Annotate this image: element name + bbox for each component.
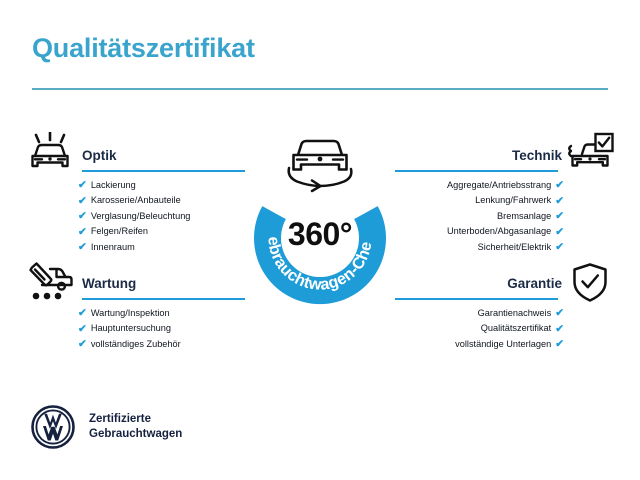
volkswagen-lockup: Zertifizierte Gebrauchtwagen (30, 404, 182, 450)
360-gebrauchtwagen-check-badge: Gebrauchtwagen-Check 360° (228, 122, 412, 312)
footer-line-1: Zertifizierte (89, 412, 182, 427)
footer-text: Zertifizierte Gebrauchtwagen (89, 412, 182, 442)
section-title-optik: Optik (82, 148, 117, 163)
list-item: Aggregate/Antriebsstrang✔ (447, 178, 564, 193)
list-item: ✔vollständiges Zubehör (78, 337, 181, 352)
section-title-garantie: Garantie (507, 276, 562, 291)
list-item: Sicherheit/Elektrik✔ (447, 240, 564, 255)
list-item: Lenkung/Fahrwerk✔ (447, 193, 564, 208)
check-icon: ✔ (555, 324, 564, 335)
section-title-technik: Technik (512, 148, 562, 163)
list-item-label: Garantienachweis (478, 306, 552, 321)
list-item-label: Bremsanlage (497, 209, 551, 224)
check-icon: ✔ (78, 180, 87, 191)
footer-line-2: Gebrauchtwagen (89, 427, 182, 442)
check-icon: ✔ (555, 242, 564, 253)
list-item-label: Aggregate/Antriebsstrang (447, 178, 551, 193)
check-icon: ✔ (78, 339, 87, 350)
page-title: Qualitätszertifikat (32, 33, 255, 64)
volkswagen-logo (30, 404, 76, 450)
check-icon: ✔ (78, 196, 87, 207)
list-item: ✔Verglasung/Beleuchtung (78, 209, 190, 224)
checklist-garantie: Garantienachweis✔ Qualitätszertifikat✔ v… (455, 306, 564, 352)
check-icon: ✔ (555, 196, 564, 207)
check-icon: ✔ (555, 308, 564, 319)
check-icon: ✔ (78, 211, 87, 222)
sparkling-car-icon (28, 132, 74, 177)
title-divider (32, 88, 608, 90)
list-item: Garantienachweis✔ (455, 306, 564, 321)
list-item-label: Lackierung (91, 178, 136, 193)
list-item-label: Innenraum (91, 240, 135, 255)
list-item-label: Hauptuntersuchung (91, 321, 171, 336)
list-item-label: Unterboden/Abgasanlage (447, 224, 551, 239)
section-divider-technik (395, 170, 558, 172)
list-item-label: Lenkung/Fahrwerk (475, 193, 551, 208)
badge-degrees: 360° (228, 216, 412, 253)
qualitaetszertifikat-infographic: Qualitätszertifikat Optik ✔Lackierung ✔K… (0, 0, 640, 480)
list-item: ✔Wartung/Inspektion (78, 306, 181, 321)
list-item-label: Sicherheit/Elektrik (478, 240, 552, 255)
check-icon: ✔ (78, 242, 87, 253)
shield-check-icon (571, 262, 609, 309)
list-item: ✔Felgen/Reifen (78, 224, 190, 239)
list-item: vollständige Unterlagen✔ (455, 337, 564, 352)
section-divider-garantie (395, 298, 558, 300)
check-icon: ✔ (555, 227, 564, 238)
checklist-optik: ✔Lackierung ✔Karosserie/Anbauteile ✔Verg… (78, 178, 190, 255)
list-item-label: Qualitätszertifikat (481, 321, 551, 336)
car-wrench-service-icon (28, 261, 74, 308)
car-checkbox-icon (566, 132, 614, 177)
list-item-label: Wartung/Inspektion (91, 306, 170, 321)
check-icon: ✔ (78, 308, 87, 319)
list-item: Unterboden/Abgasanlage✔ (447, 224, 564, 239)
check-icon: ✔ (555, 180, 564, 191)
list-item: ✔Lackierung (78, 178, 190, 193)
list-item: Qualitätszertifikat✔ (455, 321, 564, 336)
list-item-label: Karosserie/Anbauteile (91, 193, 181, 208)
list-item-label: Verglasung/Beleuchtung (91, 209, 191, 224)
check-icon: ✔ (78, 324, 87, 335)
check-icon: ✔ (555, 339, 564, 350)
list-item-label: Felgen/Reifen (91, 224, 148, 239)
checklist-technik: Aggregate/Antriebsstrang✔ Lenkung/Fahrwe… (447, 178, 564, 255)
section-title-wartung: Wartung (82, 276, 136, 291)
list-item: Bremsanlage✔ (447, 209, 564, 224)
section-divider-optik (82, 170, 245, 172)
check-icon: ✔ (555, 211, 564, 222)
list-item: ✔Innenraum (78, 240, 190, 255)
section-divider-wartung (82, 298, 245, 300)
list-item-label: vollständiges Zubehör (91, 337, 181, 352)
list-item-label: vollständige Unterlagen (455, 337, 551, 352)
checklist-wartung: ✔Wartung/Inspektion ✔Hauptuntersuchung ✔… (78, 306, 181, 352)
check-icon: ✔ (78, 227, 87, 238)
list-item: ✔Karosserie/Anbauteile (78, 193, 190, 208)
list-item: ✔Hauptuntersuchung (78, 321, 181, 336)
